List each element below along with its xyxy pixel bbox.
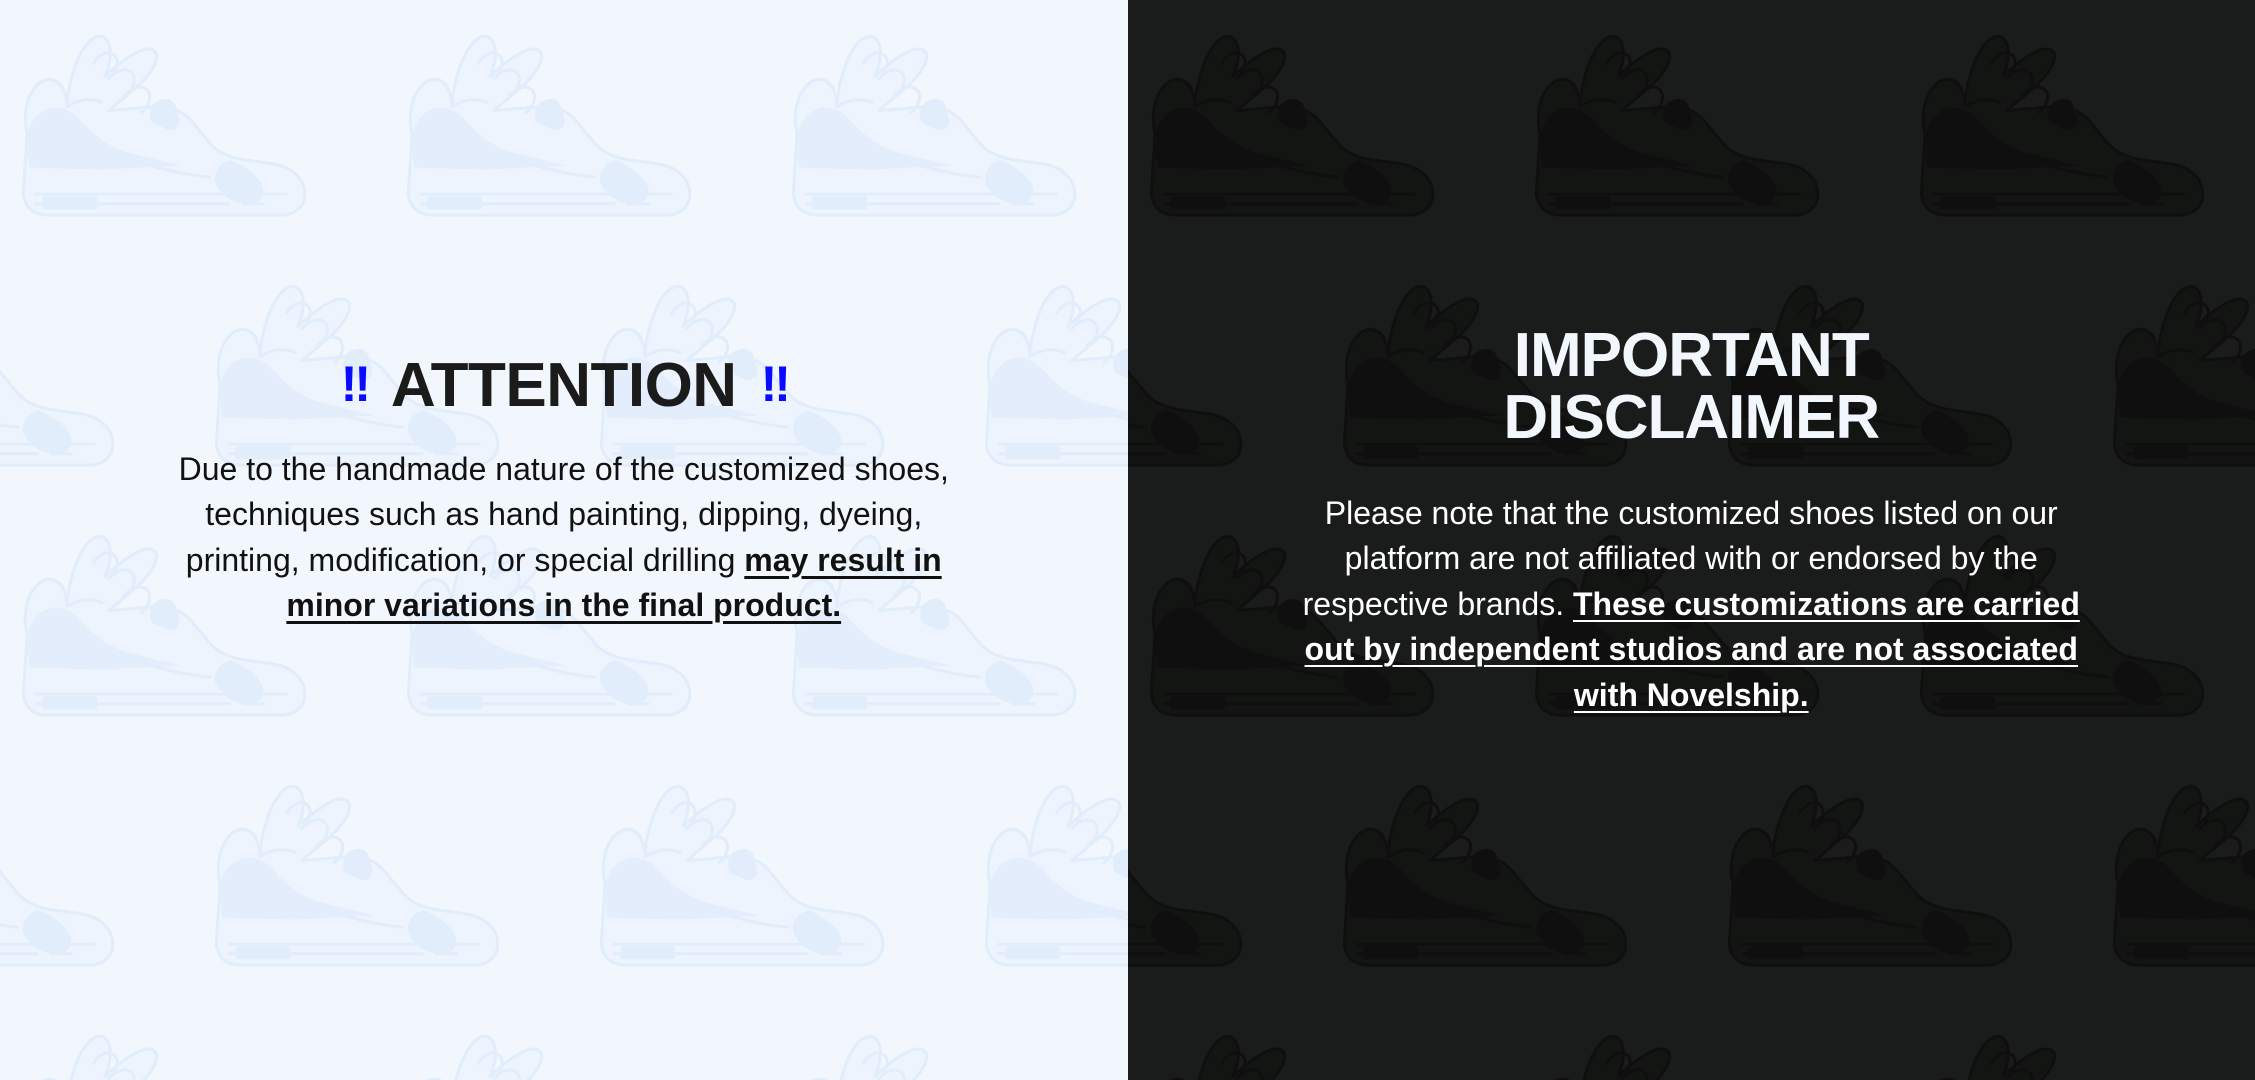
attention-body: Due to the handmade nature of the custom… (174, 447, 954, 629)
attention-content: ‼ ATTENTION ‼ Due to the handmade nature… (0, 0, 1128, 629)
disclaimer-body: Please note that the customized shoes li… (1291, 491, 2091, 718)
disclaimer-heading-line-2: DISCLAIMER (1128, 387, 2255, 449)
disclaimer-heading: IMPORTANT DISCLAIMER (1128, 325, 2255, 449)
disclaimer-panel: IMPORTANT DISCLAIMER Please note that th… (1128, 0, 2255, 1080)
attention-panel: ‼ ATTENTION ‼ Due to the handmade nature… (0, 0, 1128, 1080)
double-exclamation-icon-left: ‼ (341, 359, 367, 409)
disclaimer-content: IMPORTANT DISCLAIMER Please note that th… (1128, 0, 2255, 718)
attention-heading: ‼ ATTENTION ‼ (0, 355, 1128, 417)
double-exclamation-icon-right: ‼ (761, 359, 787, 409)
disclaimer-heading-line-1: IMPORTANT (1128, 325, 2255, 387)
attention-heading-text: ATTENTION (391, 355, 737, 417)
